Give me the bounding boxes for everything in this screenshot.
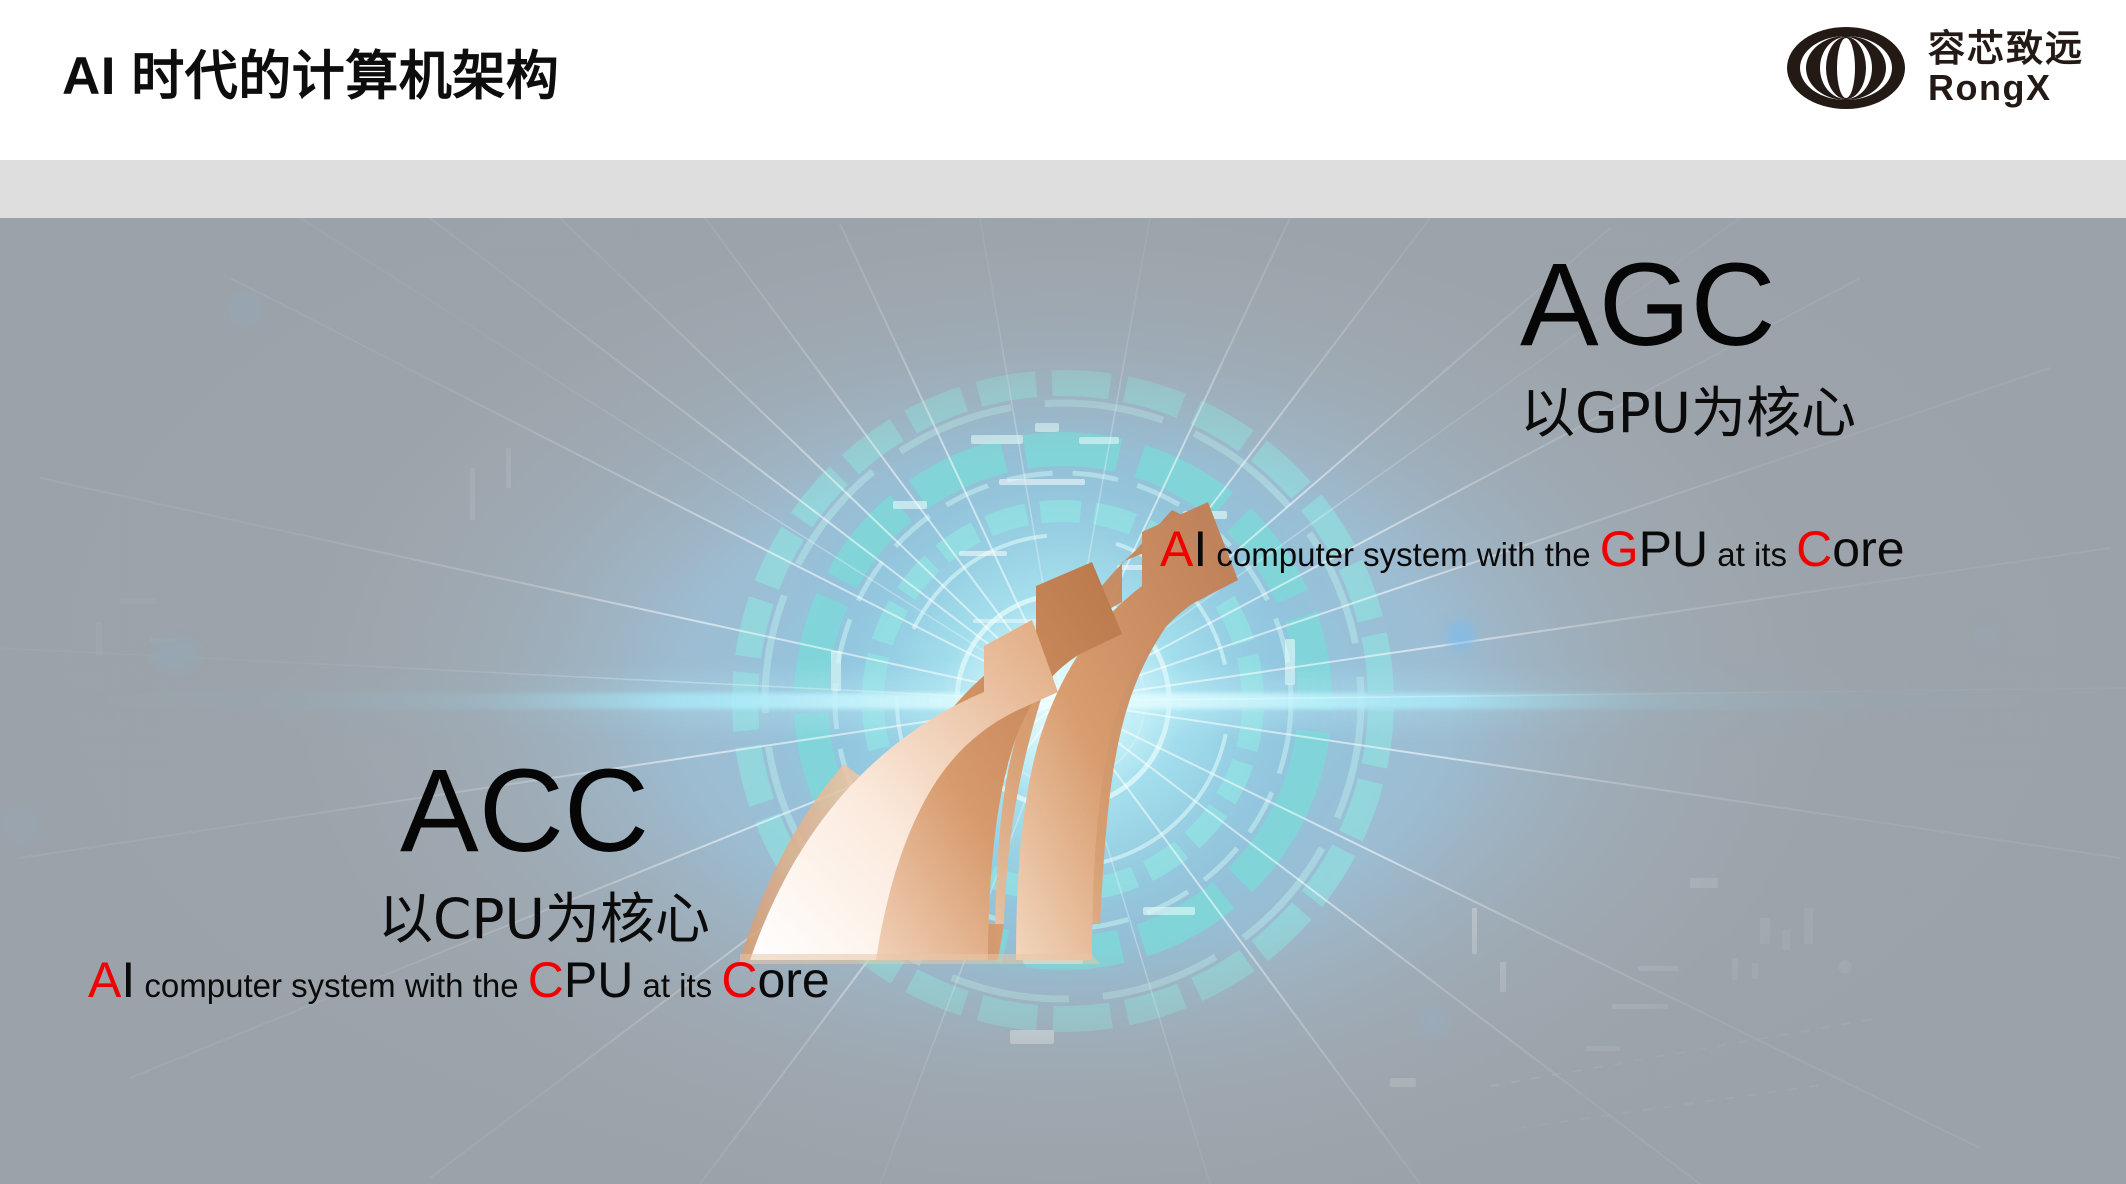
acc-mid-2: at its (633, 967, 721, 1004)
agc-chinese-subtitle: 以GPU为核心 (1520, 386, 1856, 441)
acc-ai-i: I (121, 952, 135, 1008)
lens-dot (1446, 620, 1476, 650)
agc-ai-i: I (1193, 521, 1207, 577)
brand-logo: 容芯致远 RongX (1784, 20, 2084, 116)
acc-english-line: AI computer system with the CPU at its C… (88, 955, 830, 1005)
hero-image: AGC 以GPU为核心 AI computer system with the … (0, 218, 2126, 1184)
agc-mid-1: computer system with the (1207, 536, 1599, 573)
agc-core-rest: ore (1832, 521, 1904, 577)
header-separator-band (0, 160, 2126, 218)
slide-header: AI 时代的计算机架构 容芯致远 RongX (0, 0, 2126, 160)
lens-dot (1972, 624, 1998, 650)
acc-core-initial: C (721, 952, 757, 1008)
rongx-oval-mark-icon (1784, 24, 1908, 112)
agc-mid-2: at its (1708, 536, 1796, 573)
agc-english-line: AI computer system with the GPU at its C… (1160, 524, 1905, 574)
agc-ai-a: A (1160, 521, 1193, 577)
brand-wordmark: 容芯致远 RongX (1928, 30, 2084, 106)
lens-dot (150, 638, 202, 672)
agc-core-initial: C (1796, 521, 1832, 577)
acc-chip-initial: C (528, 952, 564, 1008)
agc-text-block: AGC 以GPU为核心 (1520, 246, 1856, 441)
acc-mid-1: computer system with the (135, 967, 527, 1004)
lens-dot (0, 806, 40, 846)
acc-chinese-subtitle: 以CPU为核心 (378, 892, 710, 947)
page-title: AI 时代的计算机架构 (62, 34, 559, 110)
agc-chip-rest: PU (1639, 521, 1708, 577)
acc-text-block: ACC 以CPU为核心 (400, 752, 710, 947)
agc-acronym: AGC (1520, 246, 1856, 364)
acc-acronym: ACC (400, 752, 710, 870)
lens-dot (1418, 1008, 1448, 1038)
slide-root: AI 时代的计算机架构 容芯致远 RongX (0, 0, 2126, 1184)
acc-chip-rest: PU (564, 952, 633, 1008)
acc-core-rest: ore (757, 952, 829, 1008)
brand-name-cn: 容芯致远 (1928, 30, 2084, 67)
brand-name-en: RongX (1928, 70, 2084, 106)
lens-dot (228, 292, 262, 326)
agc-chip-initial: G (1600, 521, 1639, 577)
acc-ai-a: A (88, 952, 121, 1008)
